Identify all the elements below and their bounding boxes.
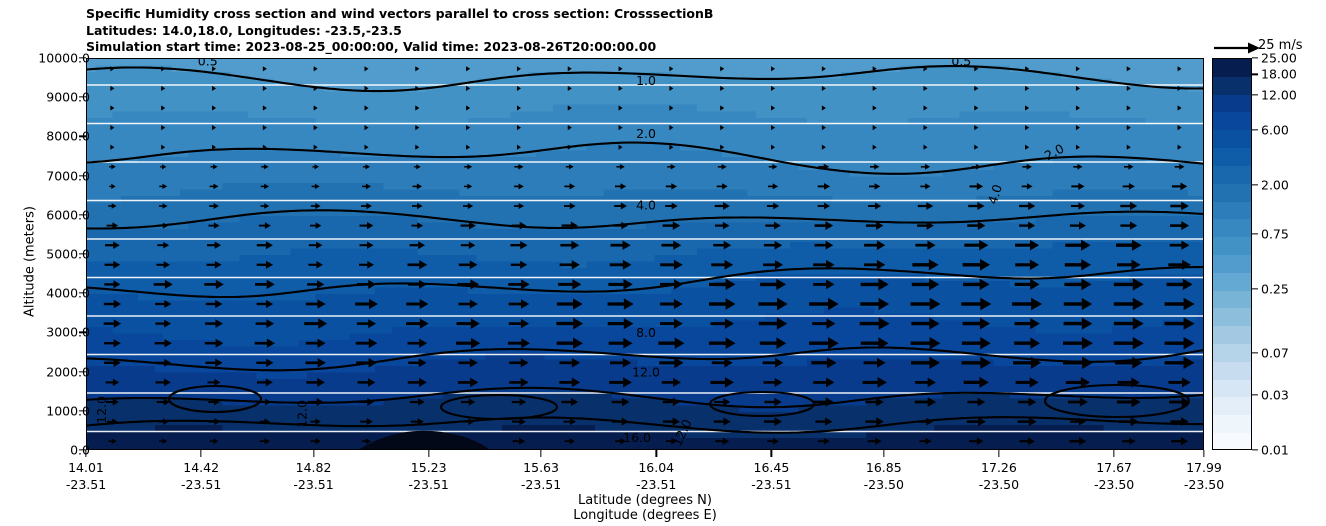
colorbar-tick-mark bbox=[1252, 74, 1258, 75]
colorbar-band bbox=[1213, 59, 1251, 77]
colorbar-tick-label: 25.00 bbox=[1261, 51, 1297, 66]
x-tick-label-group: 14.42-23.51 bbox=[181, 459, 221, 493]
x-tick-label-latitude: 16.04 bbox=[636, 459, 676, 476]
x-tick-label-group: 14.82-23.51 bbox=[293, 459, 333, 493]
x-tick-label-latitude: 16.85 bbox=[864, 459, 904, 476]
colorbar-band bbox=[1213, 237, 1251, 255]
colorbar-tick-label: 2.00 bbox=[1261, 177, 1289, 192]
colorbar-band bbox=[1213, 344, 1251, 362]
colorbar-tick-mark bbox=[1252, 449, 1258, 450]
x-axis-label-latitude: Latitude (degrees N) bbox=[86, 493, 1204, 508]
x-tick-label-longitude: -23.51 bbox=[293, 476, 333, 493]
colorbar-tick-mark bbox=[1252, 57, 1258, 58]
y-tick-label: 5000.0 bbox=[46, 247, 90, 262]
x-tick-label-group: 15.23-23.51 bbox=[409, 459, 449, 493]
title-line-1: Specific Humidity cross section and wind… bbox=[86, 6, 713, 23]
colorbar-band bbox=[1213, 273, 1251, 291]
colorbar-band bbox=[1213, 166, 1251, 184]
colorbar-band bbox=[1213, 380, 1251, 398]
x-tick-label-longitude: -23.50 bbox=[979, 476, 1019, 493]
colorbar-band bbox=[1213, 291, 1251, 309]
colorbar-band bbox=[1213, 397, 1251, 415]
x-tick-label-latitude: 14.82 bbox=[293, 459, 333, 476]
colorbar-tick-label: 12.00 bbox=[1261, 87, 1297, 102]
colorbar-tick-mark bbox=[1252, 394, 1258, 395]
colorbar-tick-mark bbox=[1252, 233, 1258, 234]
y-tick-label: 4000.0 bbox=[46, 286, 90, 301]
x-tick-label-latitude: 15.63 bbox=[521, 459, 561, 476]
colorbar-band bbox=[1213, 202, 1251, 220]
y-tick-label: 10000.0 bbox=[38, 51, 90, 66]
title-line-2: Latitudes: 14.0,18.0, Longitudes: -23.5,… bbox=[86, 23, 713, 40]
x-tick-mark bbox=[540, 450, 541, 457]
colorbar-tick-mark bbox=[1252, 129, 1258, 130]
x-tick-label-group: 14.01-23.51 bbox=[66, 459, 106, 493]
y-tick-label: 0.0 bbox=[70, 443, 90, 458]
x-tick-label-latitude: 17.99 bbox=[1184, 459, 1224, 476]
colorbar-tick-label: 0.03 bbox=[1261, 387, 1289, 402]
x-tick-label-longitude: -23.51 bbox=[521, 476, 561, 493]
x-tick-label-longitude: -23.50 bbox=[1184, 476, 1224, 493]
x-tick-label-group: 16.45-23.51 bbox=[751, 459, 791, 493]
colorbar-band bbox=[1213, 308, 1251, 326]
y-tick-label: 9000.0 bbox=[46, 90, 90, 105]
colorbar-tick-label: 0.25 bbox=[1261, 281, 1289, 296]
y-tick-label: 8000.0 bbox=[46, 129, 90, 144]
x-tick-label-group: 16.04-23.51 bbox=[636, 459, 676, 493]
colorbar-band bbox=[1213, 95, 1251, 113]
x-tick-label-latitude: 16.45 bbox=[751, 459, 791, 476]
plot-svg: 0.50.51.02.02.04.04.08.012.012.012.016.0… bbox=[87, 59, 1204, 450]
x-tick-mark bbox=[883, 450, 884, 457]
x-tick-mark bbox=[85, 450, 86, 457]
x-tick-label-latitude: 15.23 bbox=[409, 459, 449, 476]
colorbar-band bbox=[1213, 415, 1251, 433]
colorbar-band bbox=[1213, 433, 1251, 450]
y-tick-label: 1000.0 bbox=[46, 403, 90, 418]
colorbar-tick-mark bbox=[1252, 288, 1258, 289]
colorbar-tick-label: 18.00 bbox=[1261, 67, 1297, 82]
x-tick-mark bbox=[771, 450, 772, 457]
x-tick-label-latitude: 14.42 bbox=[181, 459, 221, 476]
colorbar-band bbox=[1213, 362, 1251, 380]
cross-section-plot[interactable]: 0.50.51.02.02.04.04.08.012.012.012.016.0… bbox=[86, 58, 1204, 450]
x-tick-label-group: 17.99-23.50 bbox=[1184, 459, 1224, 493]
x-tick-label-longitude: -23.51 bbox=[66, 476, 106, 493]
x-tick-label-latitude: 17.26 bbox=[979, 459, 1019, 476]
title-line-3: Simulation start time: 2023-08-25_00:00:… bbox=[86, 39, 713, 56]
x-tick-mark bbox=[201, 450, 202, 457]
x-tick-label-group: 17.26-23.50 bbox=[979, 459, 1019, 493]
x-axis-label-longitude: Longitude (degrees E) bbox=[86, 508, 1204, 523]
x-tick-label-longitude: -23.51 bbox=[409, 476, 449, 493]
x-tick-label-longitude: -23.51 bbox=[181, 476, 221, 493]
x-tick-mark bbox=[428, 450, 429, 457]
figure-title: Specific Humidity cross section and wind… bbox=[86, 6, 713, 56]
x-tick-label-latitude: 14.01 bbox=[66, 459, 106, 476]
y-tick-label: 6000.0 bbox=[46, 207, 90, 222]
colorbar-band bbox=[1213, 130, 1251, 148]
colorbar-tick-label: 0.75 bbox=[1261, 226, 1289, 241]
colorbar bbox=[1212, 58, 1252, 450]
x-tick-label-longitude: -23.50 bbox=[864, 476, 904, 493]
y-tick-label: 7000.0 bbox=[46, 168, 90, 183]
y-axis-label: Altitude (meters) bbox=[23, 172, 38, 352]
colorbar-band bbox=[1213, 326, 1251, 344]
y-tick-label: 3000.0 bbox=[46, 325, 90, 340]
x-tick-label-group: 17.67-23.50 bbox=[1094, 459, 1134, 493]
colorbar-tick-mark bbox=[1252, 94, 1258, 95]
colorbar-tick-label: 6.00 bbox=[1261, 122, 1289, 137]
x-tick-label-longitude: -23.50 bbox=[1094, 476, 1134, 493]
colorbar-band bbox=[1213, 184, 1251, 202]
figure-canvas: Specific Humidity cross section and wind… bbox=[0, 0, 1326, 526]
x-tick-label-longitude: -23.51 bbox=[636, 476, 676, 493]
colorbar-tick-mark bbox=[1252, 184, 1258, 185]
colorbar-band bbox=[1213, 219, 1251, 237]
colorbar-band bbox=[1213, 112, 1251, 130]
colorbar-tick-mark bbox=[1252, 352, 1258, 353]
colorbar-tick-label: 0.07 bbox=[1261, 345, 1289, 360]
x-tick-label-longitude: -23.51 bbox=[751, 476, 791, 493]
x-tick-mark bbox=[313, 450, 314, 457]
x-tick-label-group: 15.63-23.51 bbox=[521, 459, 561, 493]
x-tick-label-latitude: 17.67 bbox=[1094, 459, 1134, 476]
colorbar-band bbox=[1213, 77, 1251, 95]
colorbar-band bbox=[1213, 148, 1251, 166]
x-tick-label-group: 16.85-23.50 bbox=[864, 459, 904, 493]
colorbar-tick-label: 0.01 bbox=[1261, 443, 1289, 458]
colorbar-band bbox=[1213, 255, 1251, 273]
y-tick-label: 2000.0 bbox=[46, 364, 90, 379]
x-tick-mark bbox=[998, 450, 999, 457]
x-tick-mark bbox=[1203, 450, 1204, 457]
x-tick-mark bbox=[656, 450, 657, 457]
x-tick-mark bbox=[1113, 450, 1114, 457]
